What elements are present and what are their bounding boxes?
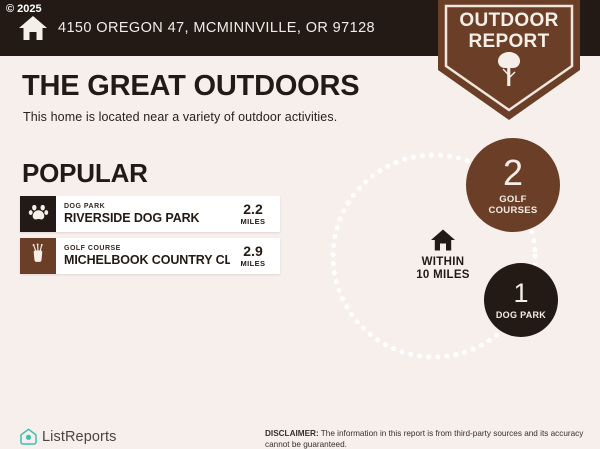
list-item[interactable]: DOG PARK RIVERSIDE DOG PARK 2.2 MILES bbox=[20, 196, 280, 232]
stat-bubble-golf-courses[interactable]: 2 GOLF COURSES bbox=[466, 138, 560, 232]
listreports-wordmark: ListReports bbox=[42, 429, 116, 445]
listreports-house-icon bbox=[20, 428, 37, 445]
within-10-miles-infographic: WITHIN 10 MILES 2 GOLF COURSES 1 DOG PAR… bbox=[325, 140, 575, 370]
poi-text-block: GOLF COURSE MICHELBOOK COUNTRY CLUB bbox=[56, 238, 230, 274]
poi-distance: 2.9 MILES bbox=[230, 238, 280, 274]
poi-category: DOG PARK bbox=[64, 202, 230, 211]
poi-icon-tile bbox=[20, 196, 56, 232]
golf-bag-icon bbox=[28, 243, 49, 269]
center-home-marker: WITHIN 10 MILES bbox=[398, 228, 488, 282]
poi-distance: 2.2 MILES bbox=[230, 196, 280, 232]
poi-category: GOLF COURSE bbox=[64, 244, 230, 253]
poi-distance-value: 2.9 bbox=[243, 244, 262, 259]
popular-section-title: POPULAR bbox=[22, 158, 148, 189]
page-subtitle: This home is located near a variety of o… bbox=[23, 110, 337, 124]
home-icon bbox=[18, 14, 48, 42]
stat-count: 1 bbox=[513, 280, 528, 307]
poi-text-block: DOG PARK RIVERSIDE DOG PARK bbox=[56, 196, 230, 232]
poi-distance-value: 2.2 bbox=[243, 202, 262, 217]
disclaimer: DISCLAIMER: The information in this repo… bbox=[265, 428, 590, 449]
stat-bubble-dog-park[interactable]: 1 DOG PARK bbox=[484, 263, 558, 337]
stat-label-line1: GOLF bbox=[499, 194, 527, 205]
property-address: 4150 OREGON 47, MCMINNVILLE, OR 97128 bbox=[58, 20, 375, 36]
stat-label-line2: COURSES bbox=[488, 205, 537, 216]
list-item[interactable]: GOLF COURSE MICHELBOOK COUNTRY CLUB 2.9 … bbox=[20, 238, 280, 274]
poi-name: RIVERSIDE DOG PARK bbox=[64, 211, 230, 226]
paw-print-icon bbox=[28, 201, 49, 227]
poi-name: MICHELBOOK COUNTRY CLUB bbox=[64, 253, 230, 268]
stat-label-line1: DOG PARK bbox=[496, 310, 546, 321]
poi-icon-tile bbox=[20, 238, 56, 274]
outdoor-report-badge: OUTDOOR REPORT bbox=[438, 0, 580, 120]
listreports-logo[interactable]: ListReports bbox=[20, 428, 116, 445]
outdoor-report-page: © 2025 4150 OREGON 47, MCMINNVILLE, OR 9… bbox=[0, 0, 600, 449]
center-label-line2: 10 MILES bbox=[398, 269, 488, 282]
poi-distance-unit: MILES bbox=[241, 259, 266, 268]
popular-list: DOG PARK RIVERSIDE DOG PARK 2.2 MILES bbox=[20, 196, 280, 280]
stat-count: 2 bbox=[503, 155, 523, 191]
page-title: THE GREAT OUTDOORS bbox=[22, 70, 359, 103]
center-label-line1: WITHIN bbox=[398, 256, 488, 269]
home-icon bbox=[430, 228, 456, 252]
disclaimer-label: DISCLAIMER: bbox=[265, 429, 319, 438]
poi-distance-unit: MILES bbox=[241, 217, 266, 226]
